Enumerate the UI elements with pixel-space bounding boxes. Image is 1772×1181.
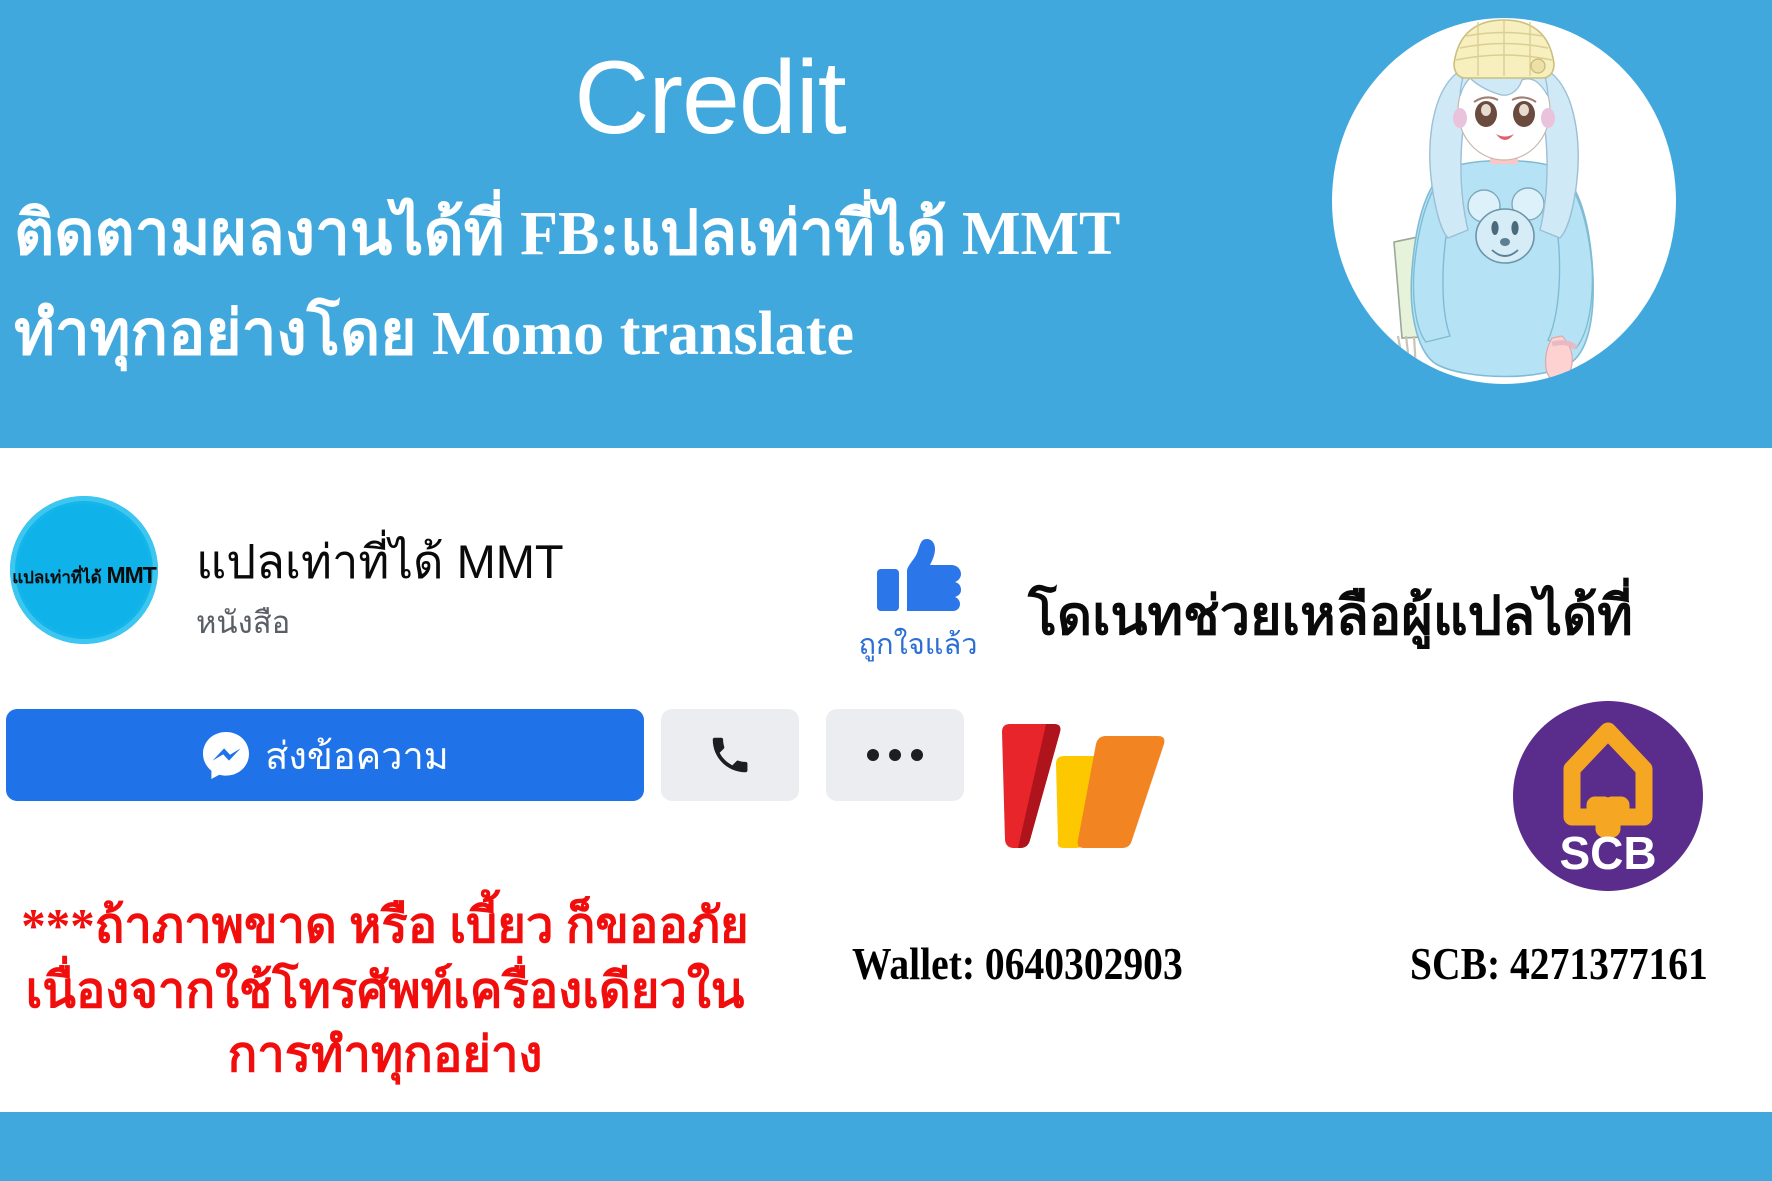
wallet-account-label: Wallet: 0640302903 <box>852 937 1183 990</box>
avatar <box>1332 18 1676 384</box>
phone-icon <box>707 732 753 778</box>
scb-account-label: SCB: 4271377161 <box>1410 937 1708 990</box>
disclaimer-line-1: ***ถ้าภาพขาด หรือ เบี้ยว ก็ขออภัย <box>0 894 770 959</box>
page-category: หนังสือ <box>196 597 290 647</box>
banner-credit-line-1: ติดตามผลงานได้ที่ FB:แปลเท่าที่ได้ MMT <box>14 200 1120 268</box>
page-name[interactable]: แปลเท่าที่ได้ MMT <box>196 524 564 599</box>
banner-credit-line-2: ทำทุกอย่างโดย Momo translate <box>14 300 854 368</box>
page-profile-logo[interactable]: แปลเท่าที่ได้ MMT <box>10 496 158 644</box>
page-logo-thai: แปลเท่าที่ได้ <box>12 568 102 587</box>
disclaimer-note: ***ถ้าภาพขาด หรือ เบี้ยว ก็ขออภัย เนื่อง… <box>0 894 770 1088</box>
truemoney-wallet-logo <box>994 718 1174 848</box>
call-button[interactable] <box>661 709 799 801</box>
page-profile-logo-inner: แปลเท่าที่ได้ MMT <box>18 504 150 636</box>
donate-heading: โดเนทช่วยเหลือผู้แปลได้ที่ <box>1028 572 1633 658</box>
credit-page: Credit ติดตามผลงานได้ที่ FB:แปลเท่าที่ได… <box>0 0 1772 1181</box>
disclaimer-line-3: การทำทุกอย่าง <box>0 1023 770 1088</box>
header-banner: Credit ติดตามผลงานได้ที่ FB:แปลเท่าที่ได… <box>0 0 1772 448</box>
ellipsis-icon <box>867 749 923 761</box>
scb-bank-logo: SCB <box>1513 701 1703 891</box>
like-label: ถูกใจแล้ว <box>838 621 998 667</box>
page-title: Credit <box>0 44 1420 153</box>
like-button[interactable]: ถูกใจแล้ว <box>838 537 998 667</box>
scb-logo-text: SCB <box>1559 827 1656 879</box>
avatar-circle <box>1332 18 1676 384</box>
disclaimer-line-2: เนื่องจากใช้โทรศัพท์เครื่องเดียวใน <box>0 959 770 1024</box>
more-options-button[interactable] <box>826 709 964 801</box>
page-logo-mmt: MMT <box>106 562 155 588</box>
send-message-button[interactable]: ส่งข้อความ <box>6 709 644 801</box>
anime-girl-illustration <box>1332 18 1676 384</box>
page-profile-logo-text: แปลเท่าที่ได้ MMT <box>12 562 156 591</box>
send-message-label: ส่งข้อความ <box>265 725 449 786</box>
bottom-bar <box>0 1112 1772 1181</box>
thumbs-up-icon <box>875 537 961 615</box>
messenger-icon <box>201 730 251 780</box>
